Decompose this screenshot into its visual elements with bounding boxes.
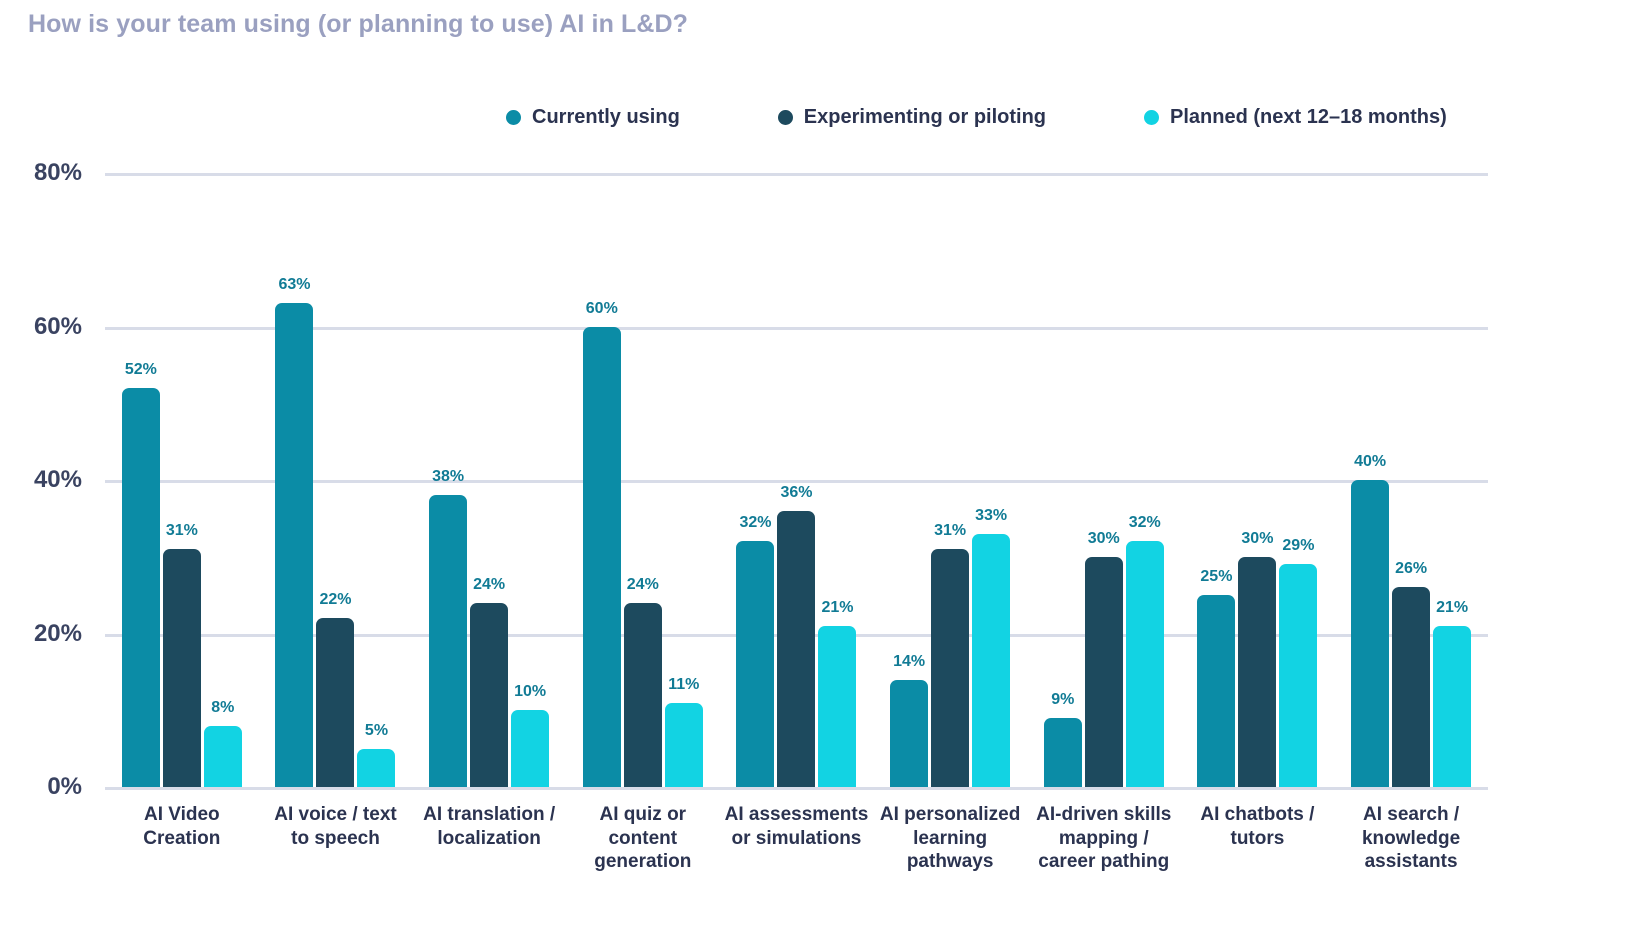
- bar-slot: 60%: [583, 173, 621, 787]
- legend-label: Experimenting or piloting: [804, 107, 1046, 127]
- bar-slot: 9%: [1044, 173, 1082, 787]
- bar-value-label: 31%: [934, 522, 966, 540]
- bar-group: 52%31%8%: [105, 173, 259, 787]
- legend-label: Currently using: [532, 107, 680, 127]
- bar[interactable]: 32%: [736, 541, 774, 787]
- bar-value-label: 21%: [821, 599, 853, 617]
- bar[interactable]: 30%: [1085, 557, 1123, 787]
- bar[interactable]: 63%: [275, 303, 313, 787]
- bar-slot: 40%: [1351, 173, 1389, 787]
- bar-group: 9%30%32%: [1027, 173, 1181, 787]
- x-axis-labels: AI Video CreationAI voice / text to spee…: [105, 803, 1488, 874]
- legend-label: Planned (next 12–18 months): [1170, 107, 1447, 127]
- x-axis-category-label: AI search / knowledge assistants: [1334, 803, 1488, 874]
- bar[interactable]: 21%: [818, 626, 856, 787]
- x-axis-category-label: AI-driven skills mapping / career pathin…: [1027, 803, 1181, 874]
- bar-slot: 31%: [163, 173, 201, 787]
- bar-value-label: 31%: [166, 522, 198, 540]
- bar[interactable]: 22%: [316, 618, 354, 787]
- bar[interactable]: 11%: [665, 703, 703, 787]
- bar-slot: 33%: [972, 173, 1010, 787]
- bar-slot: 24%: [624, 173, 662, 787]
- x-axis-category-label: AI personalized learning pathways: [873, 803, 1027, 874]
- x-axis-category-label: AI voice / text to speech: [259, 803, 413, 874]
- bar-value-label: 10%: [514, 683, 546, 701]
- bar[interactable]: 31%: [163, 549, 201, 787]
- bar-value-label: 52%: [125, 361, 157, 379]
- legend-item-currently-using[interactable]: Currently using: [506, 103, 680, 131]
- bar-value-label: 32%: [739, 514, 771, 532]
- legend-swatch-circle-icon: [506, 110, 521, 125]
- bar[interactable]: 33%: [972, 534, 1010, 787]
- bar[interactable]: 32%: [1126, 541, 1164, 787]
- plot-area: 52%31%8%63%22%5%38%24%10%60%24%11%32%36%…: [105, 173, 1488, 787]
- bar[interactable]: 5%: [357, 749, 395, 787]
- bar-slot: 25%: [1197, 173, 1235, 787]
- bar-slot: 22%: [316, 173, 354, 787]
- y-axis-tick-label: 20%: [0, 620, 82, 648]
- bar[interactable]: 21%: [1433, 626, 1471, 787]
- x-axis-category-label: AI quiz or content generation: [566, 803, 720, 874]
- chart-title: How is your team using (or planning to u…: [28, 10, 688, 39]
- chart-legend: Currently using Experimenting or pilotin…: [506, 103, 1447, 131]
- bar-value-label: 32%: [1129, 514, 1161, 532]
- bar-group: 25%30%29%: [1181, 173, 1335, 787]
- bar-slot: 36%: [777, 173, 815, 787]
- bar-value-label: 9%: [1051, 691, 1074, 709]
- bar-value-label: 14%: [893, 653, 925, 671]
- bar[interactable]: 60%: [583, 327, 621, 788]
- chart-container: How is your team using (or planning to u…: [0, 0, 1634, 952]
- bar[interactable]: 25%: [1197, 595, 1235, 787]
- bar-slot: 8%: [204, 173, 242, 787]
- bar[interactable]: 24%: [624, 603, 662, 787]
- bar-slot: 30%: [1085, 173, 1123, 787]
- bar-group: 40%26%21%: [1334, 173, 1488, 787]
- bar-slot: 31%: [931, 173, 969, 787]
- bar-slot: 63%: [275, 173, 313, 787]
- bar-slot: 32%: [736, 173, 774, 787]
- bar-value-label: 29%: [1282, 537, 1314, 555]
- bar[interactable]: 9%: [1044, 718, 1082, 787]
- bar[interactable]: 24%: [470, 603, 508, 787]
- bar[interactable]: 26%: [1392, 587, 1430, 787]
- bar-value-label: 38%: [432, 468, 464, 486]
- bar[interactable]: 8%: [204, 726, 242, 787]
- bar-value-label: 36%: [780, 484, 812, 502]
- y-axis-tick-label: 40%: [0, 466, 82, 494]
- legend-item-planned[interactable]: Planned (next 12–18 months): [1144, 103, 1447, 131]
- legend-swatch-circle-icon: [1144, 110, 1159, 125]
- bar-slot: 5%: [357, 173, 395, 787]
- bar-value-label: 30%: [1241, 530, 1273, 548]
- bar-value-label: 24%: [473, 576, 505, 594]
- bar-group: 60%24%11%: [566, 173, 720, 787]
- bar-group: 38%24%10%: [412, 173, 566, 787]
- bar-slot: 38%: [429, 173, 467, 787]
- bar-value-label: 11%: [668, 676, 699, 694]
- gridline-0: [105, 787, 1488, 790]
- x-axis-category-label: AI chatbots / tutors: [1181, 803, 1335, 874]
- x-axis-category-label: AI translation / localization: [412, 803, 566, 874]
- bar-slot: 14%: [890, 173, 928, 787]
- bar[interactable]: 14%: [890, 680, 928, 787]
- x-axis-category-label: AI assessments or simulations: [720, 803, 874, 874]
- bar[interactable]: 29%: [1279, 564, 1317, 787]
- bar[interactable]: 31%: [931, 549, 969, 787]
- bar[interactable]: 30%: [1238, 557, 1276, 787]
- bar-group: 14%31%33%: [873, 173, 1027, 787]
- bar-value-label: 30%: [1088, 530, 1120, 548]
- y-axis-tick-label: 60%: [0, 313, 82, 341]
- bar-group: 63%22%5%: [259, 173, 413, 787]
- bar-value-label: 26%: [1395, 560, 1427, 578]
- bar-group: 32%36%21%: [720, 173, 874, 787]
- bar-slot: 26%: [1392, 173, 1430, 787]
- bar[interactable]: 10%: [511, 710, 549, 787]
- bar-slot: 24%: [470, 173, 508, 787]
- bar[interactable]: 38%: [429, 495, 467, 787]
- bar-groups: 52%31%8%63%22%5%38%24%10%60%24%11%32%36%…: [105, 173, 1488, 787]
- bar-slot: 21%: [1433, 173, 1471, 787]
- y-axis-tick-label: 80%: [0, 159, 82, 187]
- bar-value-label: 25%: [1200, 568, 1232, 586]
- bar-slot: 21%: [818, 173, 856, 787]
- bar-value-label: 33%: [975, 507, 1007, 525]
- legend-item-experimenting-or-piloting[interactable]: Experimenting or piloting: [778, 103, 1046, 131]
- x-axis-category-label: AI Video Creation: [105, 803, 259, 874]
- bar-value-label: 21%: [1436, 599, 1468, 617]
- y-axis-tick-label: 0%: [0, 773, 82, 801]
- bar[interactable]: 40%: [1351, 480, 1389, 787]
- bar-slot: 32%: [1126, 173, 1164, 787]
- bar-value-label: 22%: [319, 591, 351, 609]
- bar[interactable]: 36%: [777, 511, 815, 787]
- bar-slot: 30%: [1238, 173, 1276, 787]
- bar-slot: 10%: [511, 173, 549, 787]
- bar-value-label: 24%: [627, 576, 659, 594]
- bar-value-label: 60%: [586, 300, 618, 318]
- bar-slot: 52%: [122, 173, 160, 787]
- bar-value-label: 63%: [278, 276, 310, 294]
- bar[interactable]: 52%: [122, 388, 160, 787]
- bar-value-label: 8%: [211, 699, 234, 717]
- bar-slot: 11%: [665, 173, 703, 787]
- bar-value-label: 40%: [1354, 453, 1386, 471]
- bar-slot: 29%: [1279, 173, 1317, 787]
- bar-value-label: 5%: [365, 722, 388, 740]
- legend-swatch-circle-icon: [778, 110, 793, 125]
